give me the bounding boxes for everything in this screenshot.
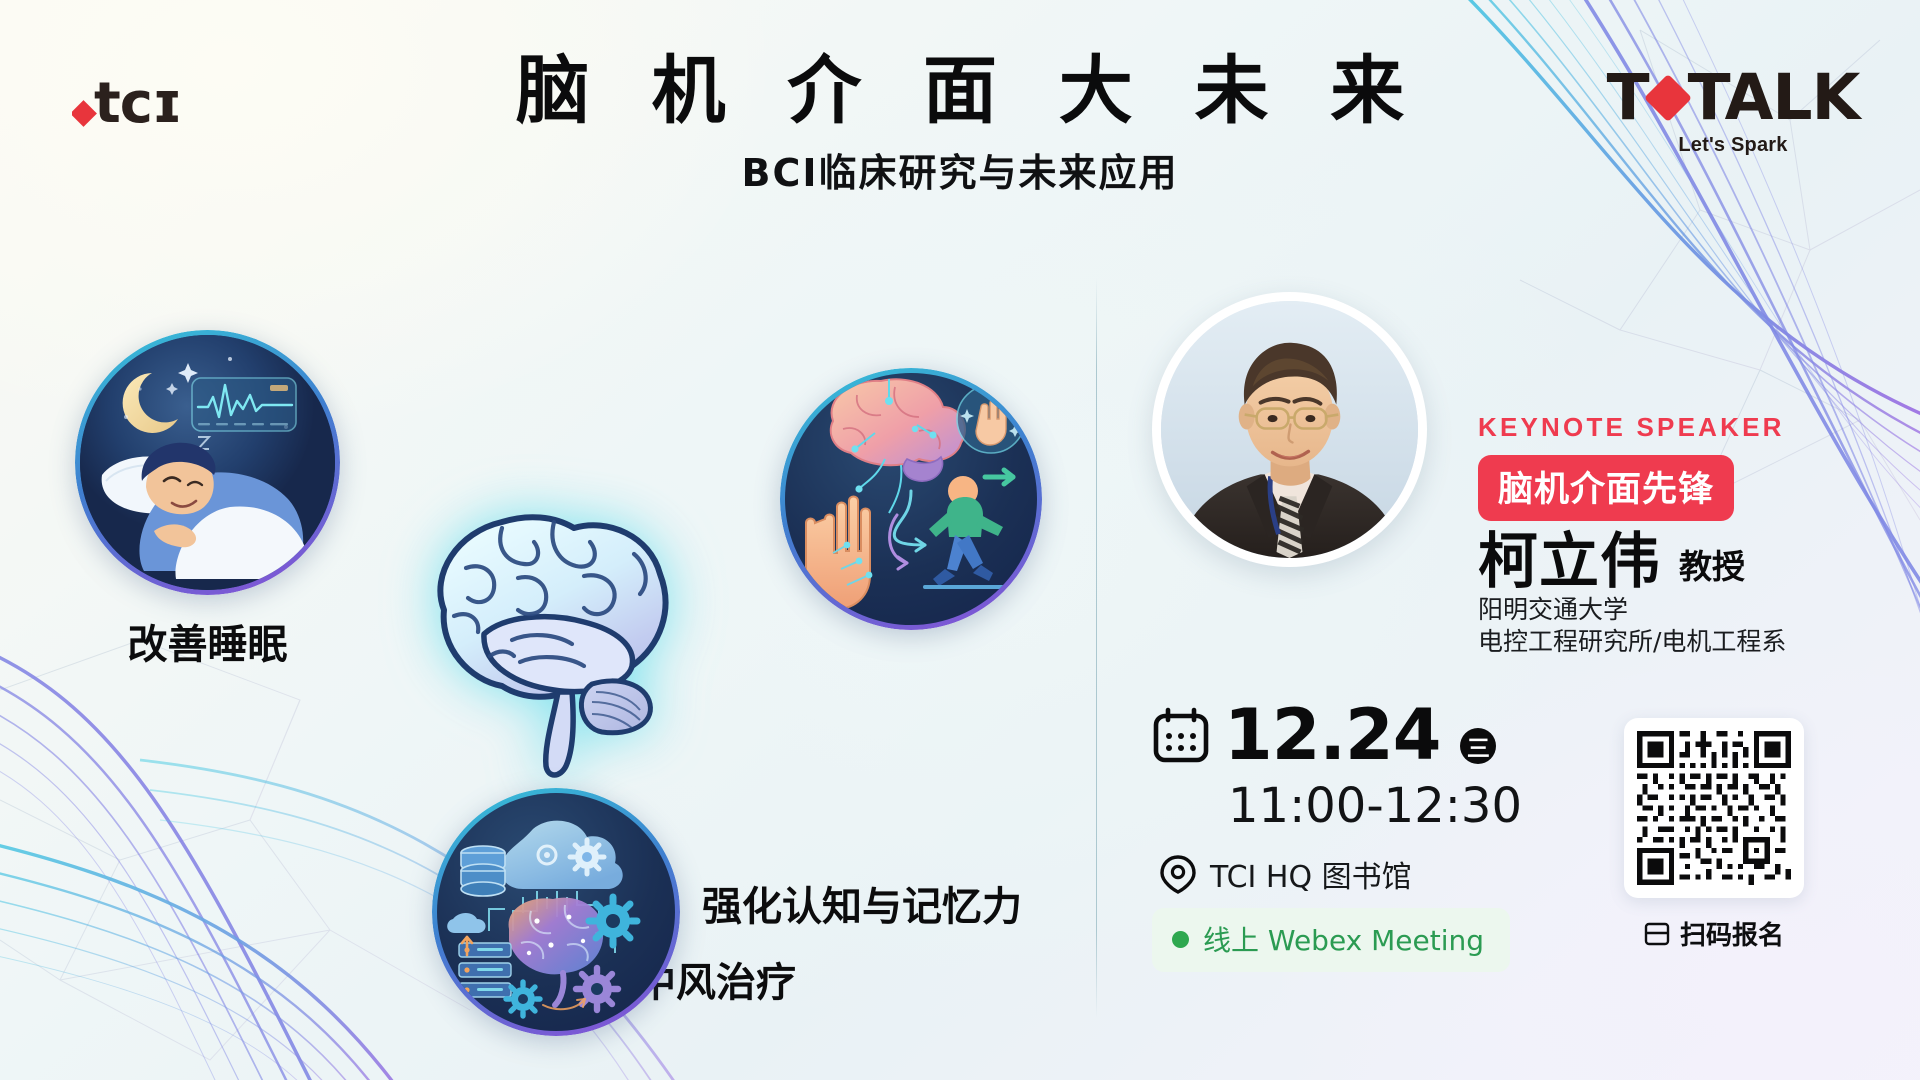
speaker-title: 教授 [1679, 540, 1745, 594]
brain-cloud-data-icon [437, 793, 675, 1031]
feature-sleep-label: 改善睡眠 [70, 612, 345, 670]
feature-stroke: 中风治疗 [780, 368, 1042, 630]
qr-registration-block[interactable]: 扫码报名 [1616, 718, 1812, 952]
feature-memory: 强化认知与记忆力 [432, 788, 680, 1036]
brain-hand-walking-icon [785, 373, 1037, 625]
calendar-small-icon [1644, 921, 1670, 947]
vertical-divider [1096, 278, 1097, 1018]
event-date: 12.24 [1224, 700, 1440, 770]
sleeping-person-icon [80, 335, 335, 590]
speaker-info: KEYNOTE SPEAKER 脑机介面先锋 柯立伟 教授 阳明交通大学 电控工… [1478, 412, 1908, 658]
qr-caption: 扫码报名 [1680, 915, 1784, 952]
headline-block: 脑 机 介 面 大 未 来 BCI临床研究与未来应用 [0, 52, 1920, 197]
feature-memory-circle [432, 788, 680, 1036]
online-meeting-badge[interactable]: 线上 Webex Meeting [1152, 908, 1510, 972]
speaker-name-row: 柯立伟 教授 [1478, 531, 1908, 594]
avatar [1152, 292, 1427, 567]
event-venue-row: TCI HQ 图书馆 [1160, 852, 1412, 896]
status-dot-icon [1172, 931, 1189, 948]
qr-code-image [1637, 731, 1791, 885]
keynote-speaker-label: KEYNOTE SPEAKER [1478, 412, 1908, 443]
location-pin-icon [1160, 854, 1196, 894]
qr-code[interactable] [1624, 718, 1804, 898]
page-title: 脑 机 介 面 大 未 来 [0, 52, 1920, 130]
feature-memory-label: 强化认知与记忆力 [702, 874, 1022, 932]
speaker-portrait [1161, 301, 1418, 558]
event-weekday-badge: 三 [1460, 728, 1496, 764]
speaker-name: 柯立伟 [1478, 531, 1661, 594]
event-date-row: 12.24 三 [1152, 700, 1496, 770]
feature-sleep: 改善睡眠 [75, 330, 340, 595]
online-meeting-label: 线上 Webex Meeting [1203, 919, 1484, 959]
calendar-icon [1152, 706, 1210, 764]
feature-stroke-circle [780, 368, 1042, 630]
poster-canvas: tcɪ T TALK Let's Spark 脑 机 介 面 大 未 来 BCI… [0, 0, 1920, 1080]
status-badge: 脑机介面先锋 [1478, 455, 1734, 521]
speaker-affiliation-line2: 电控工程研究所/电机工程系 [1478, 626, 1908, 658]
event-time: 11:00-12:30 [1228, 778, 1522, 834]
page-subtitle: BCI临床研究与未来应用 [0, 142, 1920, 197]
feature-sleep-circle [75, 330, 340, 595]
brain-illustration [378, 470, 708, 800]
speaker-affiliation-line1: 阳明交通大学 [1478, 594, 1908, 626]
qr-caption-row: 扫码报名 [1616, 915, 1812, 952]
event-venue: TCI HQ 图书馆 [1210, 852, 1412, 896]
